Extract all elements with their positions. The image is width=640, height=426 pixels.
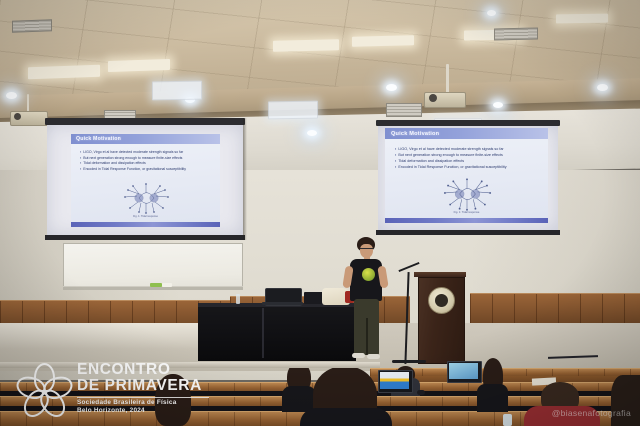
water-bottle bbox=[236, 294, 240, 304]
mic-stand-base bbox=[392, 360, 426, 363]
led-ceiling-panel bbox=[268, 101, 318, 120]
wall-vent bbox=[386, 103, 422, 117]
recessed-downlight bbox=[307, 130, 317, 136]
tshirt-graphic bbox=[362, 268, 375, 281]
audience-laptop-screen bbox=[380, 372, 409, 389]
projection-screen-left: Quick Motivation ▪LIGO, Virgo et al have… bbox=[47, 125, 243, 235]
photo-lecture-hall: Quick Motivation ▪LIGO, Virgo et al have… bbox=[0, 0, 640, 426]
slide-title: Quick Motivation bbox=[71, 134, 220, 144]
projection-screen-right: Quick Motivation ▪LIGO, Virgo et al have… bbox=[378, 126, 558, 230]
seal-center bbox=[435, 294, 448, 307]
ceiling-light-panel bbox=[556, 14, 608, 24]
presenter-table bbox=[198, 305, 356, 361]
speaker-leg-split bbox=[366, 318, 368, 355]
slide-left: Quick Motivation ▪LIGO, Virgo et al have… bbox=[71, 134, 220, 227]
projector-mount-arm bbox=[27, 94, 29, 112]
event-logo-text: ENCONTRO DE PRIMAVERA Sociedade Brasilei… bbox=[77, 362, 209, 414]
event-logo: ENCONTRO DE PRIMAVERA Sociedade Brasilei… bbox=[16, 358, 206, 418]
speaker-shoe bbox=[367, 354, 380, 359]
screen-edge-shadow-left bbox=[243, 118, 247, 240]
ceiling-vent bbox=[494, 28, 538, 41]
laptop-keyboard-base bbox=[262, 302, 303, 305]
recessed-downlight bbox=[493, 102, 503, 108]
slide-bullets: ▪LIGO, Virgo et al have detected moderat… bbox=[80, 150, 216, 172]
logo-divider bbox=[77, 397, 209, 398]
projector-mount-arm bbox=[446, 64, 449, 94]
list-item: ▪Encoded in Tidal Response Function, or … bbox=[395, 164, 545, 170]
slide-title: Quick Motivation bbox=[385, 128, 548, 139]
bullet-marker-icon: ▪ bbox=[80, 167, 81, 173]
logo-line-2: DE PRIMAVERA bbox=[77, 378, 209, 394]
water-bottle-foreground bbox=[503, 414, 512, 426]
bullet-marker-icon: ▪ bbox=[395, 164, 396, 170]
table-cloth-fold bbox=[262, 308, 264, 358]
recessed-downlight bbox=[597, 84, 608, 91]
slide-footer bbox=[385, 218, 548, 223]
audience-laptop-screen bbox=[449, 363, 478, 379]
slide-footer bbox=[71, 222, 220, 227]
slide-figure-caption: Fig. 1: Tidal response bbox=[71, 215, 220, 218]
slide-bullets: ▪LIGO, Virgo et al have detected moderat… bbox=[395, 146, 545, 170]
screen-weight-bar-left bbox=[45, 235, 245, 240]
university-seal bbox=[428, 287, 455, 314]
ceiling-light-panel bbox=[352, 35, 414, 47]
logo-line-1: ENCONTRO bbox=[77, 362, 209, 378]
audience-member-foreground-body bbox=[300, 408, 392, 426]
recessed-downlight bbox=[386, 84, 397, 91]
screen-case-left bbox=[45, 118, 245, 125]
ceiling-light-panel bbox=[28, 65, 100, 80]
whiteboard-marker bbox=[150, 283, 162, 287]
screen-weight-bar-right bbox=[376, 230, 560, 235]
led-ceiling-panel bbox=[152, 81, 202, 101]
wall-wainscot-right bbox=[470, 293, 640, 324]
ceiling-light-panel bbox=[273, 39, 339, 52]
logo-line-4: Belo Horizonte, 2024 bbox=[77, 408, 209, 414]
slide-right: Quick Motivation ▪LIGO, Virgo et al have… bbox=[385, 128, 548, 223]
ceiling-light-panel bbox=[108, 59, 170, 72]
whiteboard-eraser bbox=[162, 283, 172, 287]
ceiling-spotlight bbox=[487, 10, 496, 16]
slide-figure-diagram bbox=[435, 174, 499, 214]
photographer-watermark: @biasenafotografia bbox=[552, 408, 631, 418]
flower-logo-icon bbox=[16, 362, 68, 414]
list-item: ▪Encoded in Tidal Response Function, or … bbox=[80, 167, 216, 173]
audience-mouse bbox=[417, 390, 425, 395]
ceiling-vent bbox=[12, 19, 52, 32]
speaker-glasses-icon bbox=[360, 248, 373, 252]
slide-figure-caption: Fig. 1: Tidal response bbox=[385, 211, 548, 214]
audience-member-foreground bbox=[611, 375, 640, 426]
audience-member-body bbox=[477, 384, 508, 412]
projector-lens bbox=[14, 113, 21, 120]
speaker-shoe bbox=[352, 353, 365, 358]
logo-line-3: Sociedade Brasileira de Física bbox=[77, 400, 209, 406]
projector-lens bbox=[429, 94, 437, 102]
recessed-downlight bbox=[6, 92, 17, 99]
slide-figure-diagram bbox=[116, 179, 176, 217]
